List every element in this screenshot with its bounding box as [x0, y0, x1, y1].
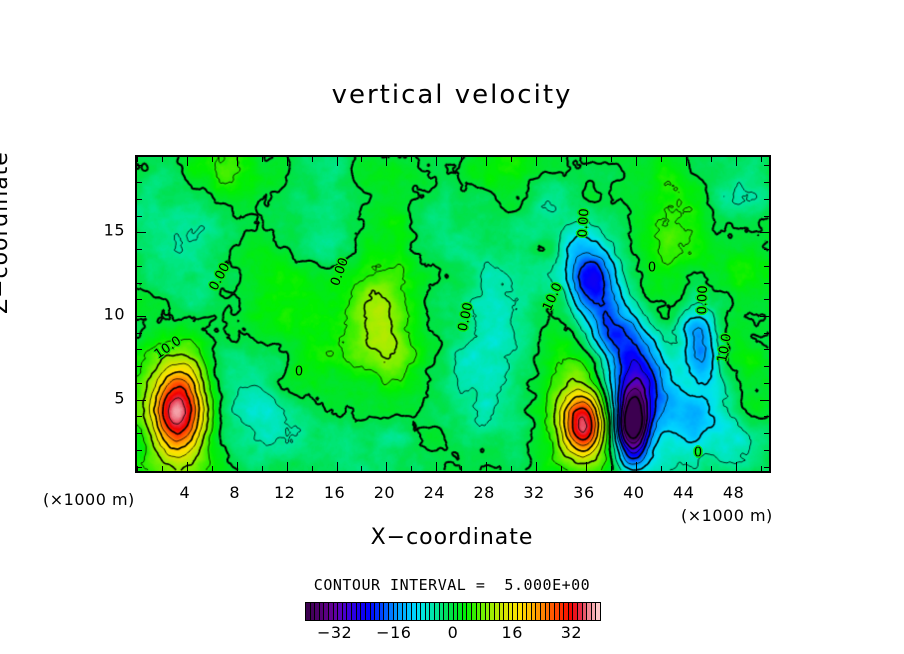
colorbar[interactable] [305, 602, 601, 621]
y-tick-left [137, 450, 142, 451]
x-tick-bottom [162, 466, 163, 471]
x-tick-top [711, 157, 712, 162]
x-tick-top [511, 157, 512, 162]
colorbar-tick-label: 32 [561, 623, 582, 642]
x-tick-label: 24 [424, 483, 445, 502]
x-tick-top [287, 157, 288, 166]
y-tick-left [137, 249, 142, 250]
x-tick-top [761, 157, 762, 162]
x-tick-top [486, 157, 487, 166]
x-tick-bottom [436, 462, 437, 471]
y-tick-left [137, 333, 142, 334]
x-tick-label: 20 [374, 483, 395, 502]
x-tick-bottom [686, 462, 687, 471]
x-tick-top [187, 157, 188, 166]
x-axis-title: X−coordinate [0, 525, 904, 550]
y-tick-right [764, 216, 769, 217]
y-tick-left [137, 299, 142, 300]
x-units-right-label: (×1000 m) [681, 506, 773, 525]
x-tick-label: 48 [723, 483, 744, 502]
x-tick-bottom [461, 466, 462, 471]
x-tick-top [212, 157, 213, 162]
y-tick-label: 10 [93, 305, 125, 324]
x-tick-bottom [536, 462, 537, 471]
x-tick-top [636, 157, 637, 166]
colorbar-tick-labels: −32−1601632 [305, 623, 601, 645]
y-tick-right [764, 333, 769, 334]
x-tick-top [536, 157, 537, 166]
x-tick-label: 8 [229, 483, 240, 502]
x-tick-top [312, 157, 313, 162]
y-tick-left [137, 316, 146, 317]
x-tick-top [561, 157, 562, 162]
y-tick-right [760, 316, 769, 317]
contour-plot-canvas [137, 157, 769, 471]
x-tick-bottom [212, 466, 213, 471]
x-tick-bottom [287, 462, 288, 471]
x-tick-top [162, 157, 163, 162]
y-tick-right [760, 232, 769, 233]
y-tick-label: 15 [93, 221, 125, 240]
x-tick-label: 4 [180, 483, 191, 502]
x-tick-top [361, 157, 362, 162]
y-tick-right [764, 383, 769, 384]
y-tick-right [764, 433, 769, 434]
y-tick-left [137, 467, 142, 468]
y-tick-left [137, 283, 142, 284]
x-tick-bottom [511, 466, 512, 471]
x-tick-bottom [237, 462, 238, 471]
x-tick-label: 28 [473, 483, 494, 502]
y-tick-right [764, 182, 769, 183]
x-tick-label: 12 [274, 483, 295, 502]
x-tick-top [461, 157, 462, 162]
x-tick-bottom [661, 466, 662, 471]
y-tick-left [137, 383, 142, 384]
x-tick-bottom [711, 466, 712, 471]
x-tick-bottom [386, 462, 387, 471]
x-tick-bottom [187, 462, 188, 471]
y-tick-left [137, 366, 142, 367]
y-tick-label: 5 [93, 388, 125, 407]
colorbar-cell [596, 603, 600, 620]
y-tick-right [760, 400, 769, 401]
x-tick-top [686, 157, 687, 166]
page-title: vertical velocity [0, 80, 904, 110]
x-tick-top [586, 157, 587, 166]
y-axis-title: Z−coordinate [0, 151, 13, 314]
y-tick-right [764, 199, 769, 200]
contour-figure: vertical velocity 4812162024283236404448… [0, 0, 904, 654]
colorbar-tick-label: −32 [317, 623, 352, 642]
colorbar-tick-label: 16 [502, 623, 523, 642]
y-tick-right [764, 450, 769, 451]
x-tick-top [411, 157, 412, 162]
x-tick-top [262, 157, 263, 162]
x-tick-bottom [361, 466, 362, 471]
x-tick-bottom [411, 466, 412, 471]
x-tick-label: 16 [324, 483, 345, 502]
y-tick-right [764, 299, 769, 300]
x-tick-bottom [736, 462, 737, 471]
y-tick-left [137, 232, 146, 233]
y-tick-right [764, 165, 769, 166]
x-tick-bottom [761, 466, 762, 471]
x-tick-top [611, 157, 612, 162]
y-tick-right [764, 416, 769, 417]
x-tick-top [386, 157, 387, 166]
x-tick-bottom [262, 466, 263, 471]
plot-area[interactable] [135, 155, 771, 473]
colorbar-tick-label: −16 [376, 623, 411, 642]
x-tick-label: 36 [573, 483, 594, 502]
y-tick-left [137, 165, 142, 166]
x-tick-top [736, 157, 737, 166]
x-tick-label: 40 [623, 483, 644, 502]
contour-interval-caption: CONTOUR INTERVAL = 5.000E+00 [0, 576, 904, 594]
x-tick-top [137, 157, 138, 162]
x-tick-bottom [337, 462, 338, 471]
y-tick-left [137, 182, 142, 183]
colorbar-tick-label: 0 [448, 623, 459, 642]
y-tick-right [764, 467, 769, 468]
x-tick-bottom [636, 462, 637, 471]
x-tick-top [661, 157, 662, 162]
x-tick-label: 32 [523, 483, 544, 502]
x-tick-top [436, 157, 437, 166]
y-tick-left [137, 266, 142, 267]
x-tick-label: 44 [673, 483, 694, 502]
y-tick-left [137, 199, 142, 200]
y-tick-right [764, 283, 769, 284]
y-tick-right [764, 349, 769, 350]
x-units-left-label: (×1000 m) [43, 490, 135, 509]
y-tick-right [764, 249, 769, 250]
y-tick-right [764, 266, 769, 267]
y-tick-left [137, 400, 146, 401]
x-tick-top [337, 157, 338, 166]
y-tick-left [137, 216, 142, 217]
y-tick-left [137, 433, 142, 434]
y-tick-left [137, 416, 142, 417]
x-tick-bottom [611, 466, 612, 471]
x-tick-top [237, 157, 238, 166]
y-tick-left [137, 349, 142, 350]
x-tick-bottom [561, 466, 562, 471]
x-tick-bottom [486, 462, 487, 471]
x-tick-bottom [312, 466, 313, 471]
y-tick-right [764, 366, 769, 367]
x-tick-bottom [586, 462, 587, 471]
